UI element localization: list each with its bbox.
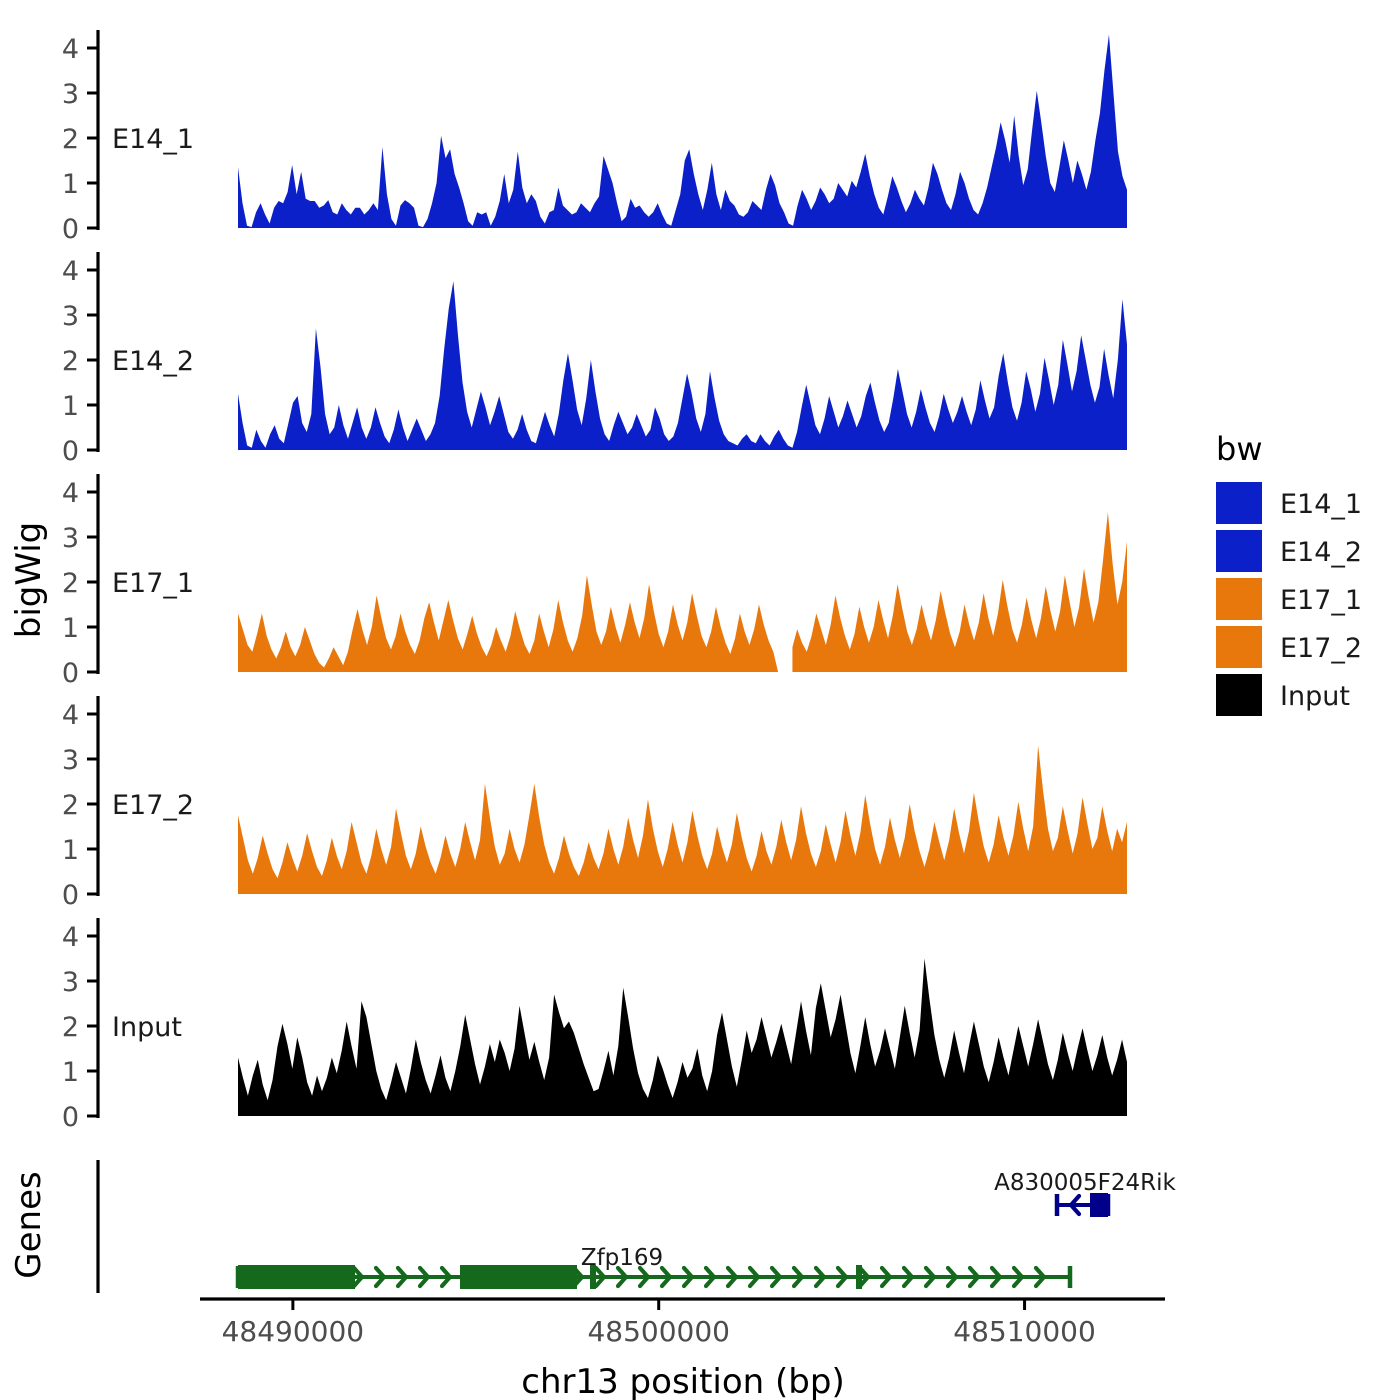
legend-label-E17_2: E17_2	[1280, 633, 1362, 664]
x-tick-label: 48510000	[953, 1315, 1096, 1348]
legend-swatch-E14_2	[1216, 530, 1262, 572]
track-label-Input: Input	[112, 1012, 182, 1043]
legend-label-E14_2: E14_2	[1280, 537, 1362, 568]
y-tick-label: 4	[62, 922, 79, 953]
legend-title: bw	[1216, 430, 1262, 468]
y-tick-label: 3	[62, 79, 79, 110]
legend-item-E17_1[interactable]: E17_1	[1216, 578, 1362, 620]
y-tick-label: 0	[62, 214, 79, 245]
genome-browser-figure: bigWig Genes 01234E14_101234E14_201234E1…	[0, 0, 1400, 1400]
legend-item-Input[interactable]: Input	[1216, 674, 1350, 716]
track-label-E14_2: E14_2	[112, 346, 194, 377]
y-tick-label: 2	[62, 568, 79, 599]
x-tick-label: 48490000	[222, 1315, 365, 1348]
x-axis-title: chr13 position (bp)	[521, 1362, 844, 1400]
figure-root: bigWig Genes 01234E14_101234E14_201234E1…	[0, 0, 1400, 1400]
legend-item-E14_2[interactable]: E14_2	[1216, 530, 1362, 572]
legend-swatch-Input	[1216, 674, 1262, 716]
y-tick-label: 4	[62, 700, 79, 731]
y-tick-label: 1	[62, 169, 79, 200]
gene-exon-block	[460, 1265, 577, 1289]
y-tick-label: 0	[62, 880, 79, 911]
y-axis-title-group: bigWig	[9, 522, 49, 639]
legend-swatch-E14_1	[1216, 482, 1262, 524]
gene-exon-block	[238, 1265, 355, 1289]
legend-item-E17_2[interactable]: E17_2	[1216, 626, 1362, 668]
legend-label-E14_1: E14_1	[1280, 489, 1362, 520]
gene-label-Zfp169: Zfp169	[581, 1245, 663, 1271]
y-tick-label: 1	[62, 391, 79, 422]
y-tick-label: 1	[62, 613, 79, 644]
y-tick-label: 3	[62, 523, 79, 554]
gene-exon-block	[1090, 1193, 1108, 1217]
y-tick-label: 1	[62, 1057, 79, 1088]
y-tick-label: 4	[62, 478, 79, 509]
y-tick-label: 0	[62, 1102, 79, 1133]
y-tick-label: 2	[62, 1012, 79, 1043]
y-tick-label: 3	[62, 301, 79, 332]
y-tick-label: 2	[62, 790, 79, 821]
genes-axis-title: Genes	[9, 1171, 49, 1278]
legend-label-Input: Input	[1280, 681, 1350, 712]
y-tick-label: 2	[62, 346, 79, 377]
y-tick-label: 0	[62, 658, 79, 689]
y-tick-label: 2	[62, 124, 79, 155]
y-tick-label: 4	[62, 34, 79, 65]
y-tick-label: 4	[62, 256, 79, 287]
y-tick-label: 1	[62, 835, 79, 866]
track-label-E14_1: E14_1	[112, 124, 194, 155]
y-axis-title: bigWig	[9, 522, 49, 639]
x-tick-label: 48500000	[587, 1315, 730, 1348]
y-tick-label: 3	[62, 745, 79, 776]
legend-swatch-E17_2	[1216, 626, 1262, 668]
track-label-E17_2: E17_2	[112, 790, 194, 821]
legend-label-E17_1: E17_1	[1280, 585, 1362, 616]
gene-label-A830005F24Rik: A830005F24Rik	[994, 1170, 1176, 1196]
genes-axis-title-group: Genes	[9, 1171, 49, 1278]
y-tick-label: 3	[62, 967, 79, 998]
y-tick-label: 0	[62, 436, 79, 467]
legend-swatch-E17_1	[1216, 578, 1262, 620]
track-label-E17_1: E17_1	[112, 568, 194, 599]
gene-exon-block	[856, 1265, 862, 1289]
legend-item-E14_1[interactable]: E14_1	[1216, 482, 1362, 524]
